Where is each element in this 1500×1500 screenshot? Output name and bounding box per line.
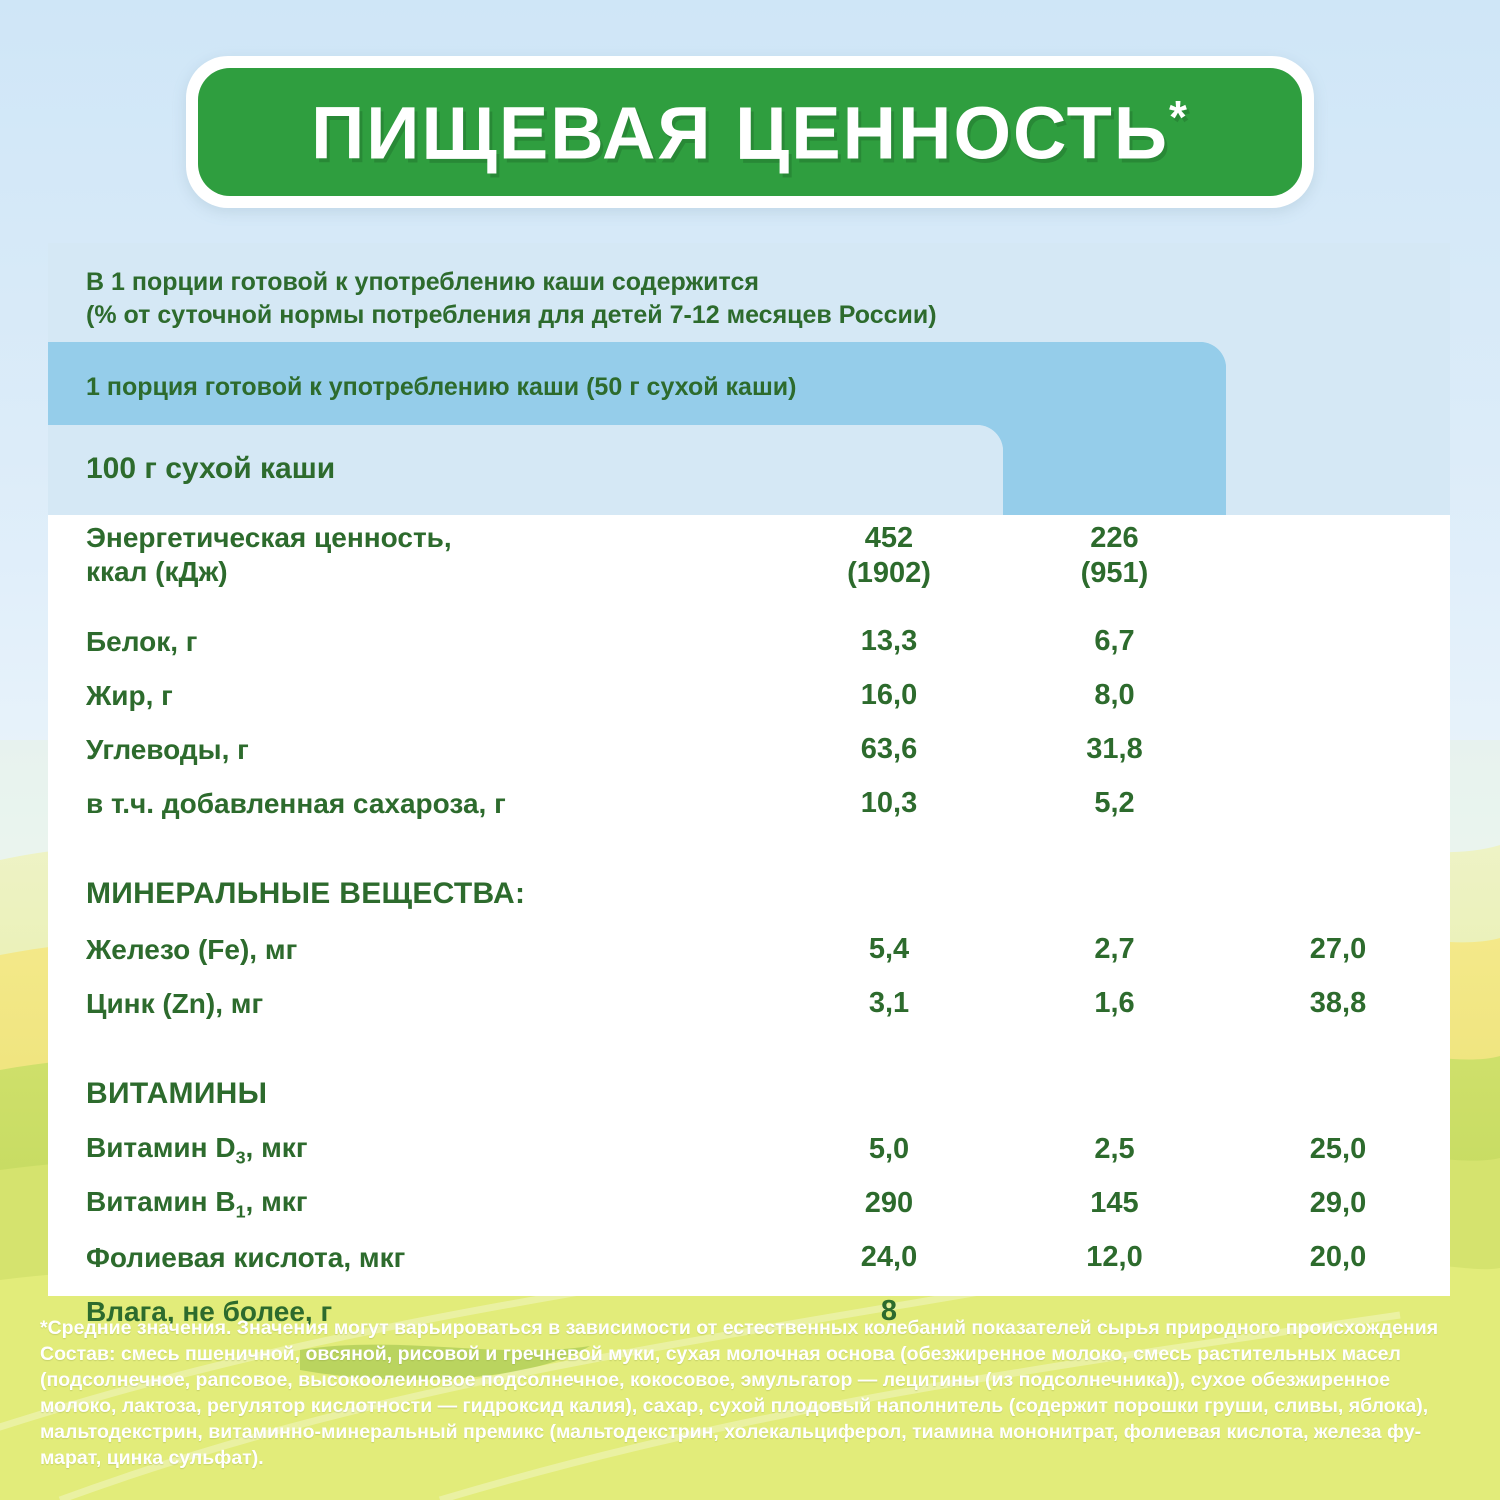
row-label: Углеводы, г <box>48 723 775 777</box>
row-value-portion: 8,0 <box>1003 669 1226 723</box>
page-title-text: ПИЩЕВАЯ ЦЕННОСТЬ <box>311 91 1169 174</box>
row-value-portion: 6,7 <box>1003 615 1226 669</box>
row-value-portion: 145 <box>1003 1177 1226 1231</box>
row-value-percent: 29,0 <box>1226 1177 1450 1231</box>
table-row: Фолиевая кислота, мкг 24,0 12,0 20,0 <box>48 1231 1450 1285</box>
row-value-percent <box>1226 777 1450 831</box>
row-value-100g: 5,0 <box>775 1123 1003 1177</box>
row-value-portion: 226 (951) <box>1003 515 1226 615</box>
section-title: ВИТАМИНЫ <box>48 1065 775 1123</box>
table-row: Цинк (Zn), мг 3,1 1,6 38,8 <box>48 977 1450 1031</box>
table-rows: Энергетическая ценность, ккал (кДж) 452 … <box>48 515 1450 1339</box>
row-spacer <box>48 831 1450 865</box>
table-row: Углеводы, г 63,6 31,8 <box>48 723 1450 777</box>
row-label: Витамин B1, мкг <box>48 1177 775 1231</box>
row-label: Жир, г <box>48 669 775 723</box>
title-badge: ПИЩЕВАЯ ЦЕННОСТЬ* <box>186 56 1314 208</box>
nutrition-panel-page: ПИЩЕВАЯ ЦЕННОСТЬ* В 1 порции готовой к у… <box>0 0 1500 1500</box>
table-row: Белок, г 13,3 6,7 <box>48 615 1450 669</box>
row-value-percent <box>1226 669 1450 723</box>
table-row: Витамин D3, мкг 5,0 2,5 25,0 <box>48 1123 1450 1177</box>
row-value-portion: 5,2 <box>1003 777 1226 831</box>
band-100g-dry-label: 100 г сухой каши <box>86 449 335 489</box>
footnote-ingredients: *Средние значения. Значения могут варьир… <box>40 1316 1470 1472</box>
row-label: Белок, г <box>48 615 775 669</box>
page-title-asterisk: * <box>1169 91 1189 143</box>
row-label: Фолиевая кислота, мкг <box>48 1231 775 1285</box>
row-value-percent <box>1226 515 1450 615</box>
band-one-portion-label: 1 порция готовой к употреблению каши (50… <box>86 371 796 404</box>
row-value-percent <box>1226 615 1450 669</box>
nutrition-table: В 1 порции готовой к употреблению каши с… <box>48 243 1450 1296</box>
row-value-100g: 16,0 <box>775 669 1003 723</box>
row-value-portion: 1,6 <box>1003 977 1226 1031</box>
row-label-text: Витамин B1, мкг <box>86 1185 307 1223</box>
row-value-100g: 24,0 <box>775 1231 1003 1285</box>
table-row: Витамин B1, мкг 290 145 29,0 <box>48 1177 1450 1231</box>
row-value-100g: 5,4 <box>775 923 1003 977</box>
row-value-percent: 38,8 <box>1226 977 1450 1031</box>
row-value-percent: 20,0 <box>1226 1231 1450 1285</box>
row-value-portion: 31,8 <box>1003 723 1226 777</box>
row-value-percent: 25,0 <box>1226 1123 1450 1177</box>
table-row: Энергетическая ценность, ккал (кДж) 452 … <box>48 515 1450 615</box>
row-value-100g: 290 <box>775 1177 1003 1231</box>
section-title: МИНЕРАЛЬНЫЕ ВЕЩЕСТВА: <box>48 865 775 923</box>
row-value-100g: 3,1 <box>775 977 1003 1031</box>
row-label: Витамин D3, мкг <box>48 1123 775 1177</box>
table-row: Жир, г 16,0 8,0 <box>48 669 1450 723</box>
row-value-100g: 63,6 <box>775 723 1003 777</box>
row-label: Энергетическая ценность, ккал (кДж) <box>48 515 775 615</box>
row-value-percent <box>1226 723 1450 777</box>
table-row: Железо (Fe), мг 5,4 2,7 27,0 <box>48 923 1450 977</box>
band-daily-norm-label: В 1 порции готовой к употреблению каши с… <box>86 266 937 332</box>
row-label: Цинк (Zn), мг <box>48 977 775 1031</box>
row-value-100g: 13,3 <box>775 615 1003 669</box>
row-value-100g: 452 (1902) <box>775 515 1003 615</box>
table-row: в т.ч. добавленная сахароза, г 10,3 5,2 <box>48 777 1450 831</box>
row-value-portion: 2,5 <box>1003 1123 1226 1177</box>
row-label: Железо (Fe), мг <box>48 923 775 977</box>
section-header-vitamins: ВИТАМИНЫ <box>48 1065 1450 1123</box>
section-header-minerals: МИНЕРАЛЬНЫЕ ВЕЩЕСТВА: <box>48 865 1450 923</box>
title-badge-inner: ПИЩЕВАЯ ЦЕННОСТЬ* <box>198 68 1302 196</box>
row-value-percent: 27,0 <box>1226 923 1450 977</box>
row-value-portion: 2,7 <box>1003 923 1226 977</box>
row-value-portion: 12,0 <box>1003 1231 1226 1285</box>
row-spacer <box>48 1031 1450 1065</box>
row-label: в т.ч. добавленная сахароза, г <box>48 777 775 831</box>
row-value-100g: 10,3 <box>775 777 1003 831</box>
row-label-text: Витамин D3, мкг <box>86 1131 307 1169</box>
page-title: ПИЩЕВАЯ ЦЕННОСТЬ* <box>311 94 1189 171</box>
